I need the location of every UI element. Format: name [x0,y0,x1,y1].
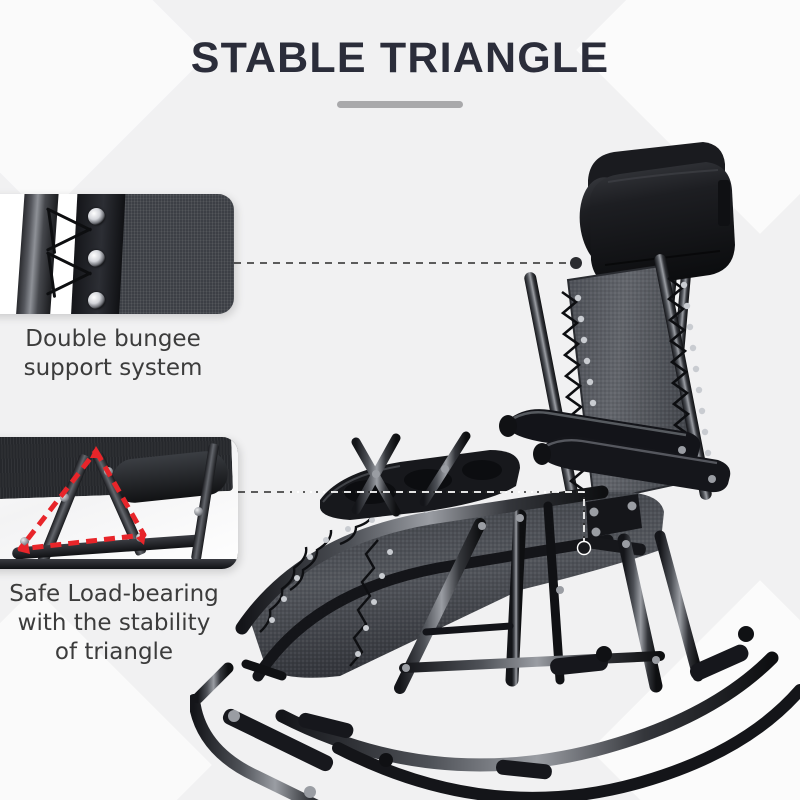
caption-line-3: of triangle [0,638,242,667]
page-title: STABLE TRIANGLE [0,34,800,83]
grommet [88,208,105,225]
grommet [88,250,105,267]
connector-line-safe-load-bearing [232,480,602,570]
caption-line-1: Double bungee [0,325,238,354]
grommet [88,292,105,309]
product-image-rocking-chair [190,120,800,800]
infographic-page: STABLE TRIANGLE [0,0,800,800]
connector-endpoint-dot [578,542,591,555]
caption-line-2: with the stability [0,609,242,638]
red-dashed-triangle-highlight [0,437,238,569]
caption-line-2: support system [0,354,238,383]
callout-double-bungee: Double bungee support system [0,194,238,383]
caption-line-1: Safe Load-bearing [0,580,242,609]
mesh-fabric-detail [116,194,234,314]
title-divider [337,101,463,108]
callout-caption-double-bungee: Double bungee support system [0,325,238,383]
callout-photo-safe-load-bearing [0,437,238,569]
connector-endpoint-dot [570,257,582,269]
callout-photo-double-bungee [0,194,234,314]
connector-line-double-bungee [230,250,590,280]
background-wedge-top-left [0,0,208,218]
rocker-runner-back [338,690,800,798]
callout-caption-safe-load-bearing: Safe Load-bearing with the stability of … [0,580,242,667]
callout-safe-load-bearing: Safe Load-bearing with the stability of … [0,437,242,667]
